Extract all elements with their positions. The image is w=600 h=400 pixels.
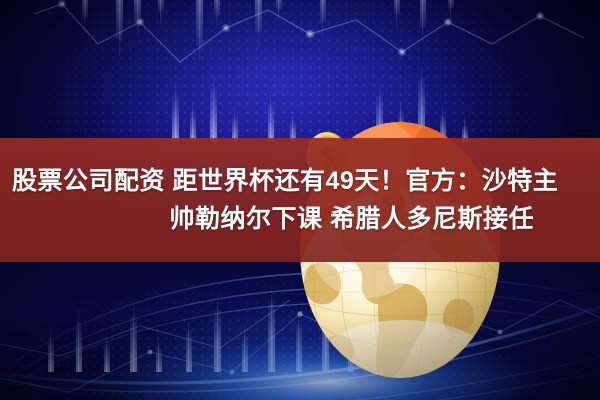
- news-banner-image: $ $ 股票公司配资 距世界杯还有49天！官方：沙特主 帅勒纳尔下课 希腊人多尼…: [0, 0, 600, 400]
- headline-line-1: 股票公司配资 距世界杯还有49天！官方：沙特主: [12, 162, 558, 200]
- headline-line-2: 帅勒纳尔下课 希腊人多尼斯接任: [170, 200, 534, 238]
- headline-banner: 股票公司配资 距世界杯还有49天！官方：沙特主 帅勒纳尔下课 希腊人多尼斯接任: [0, 138, 600, 262]
